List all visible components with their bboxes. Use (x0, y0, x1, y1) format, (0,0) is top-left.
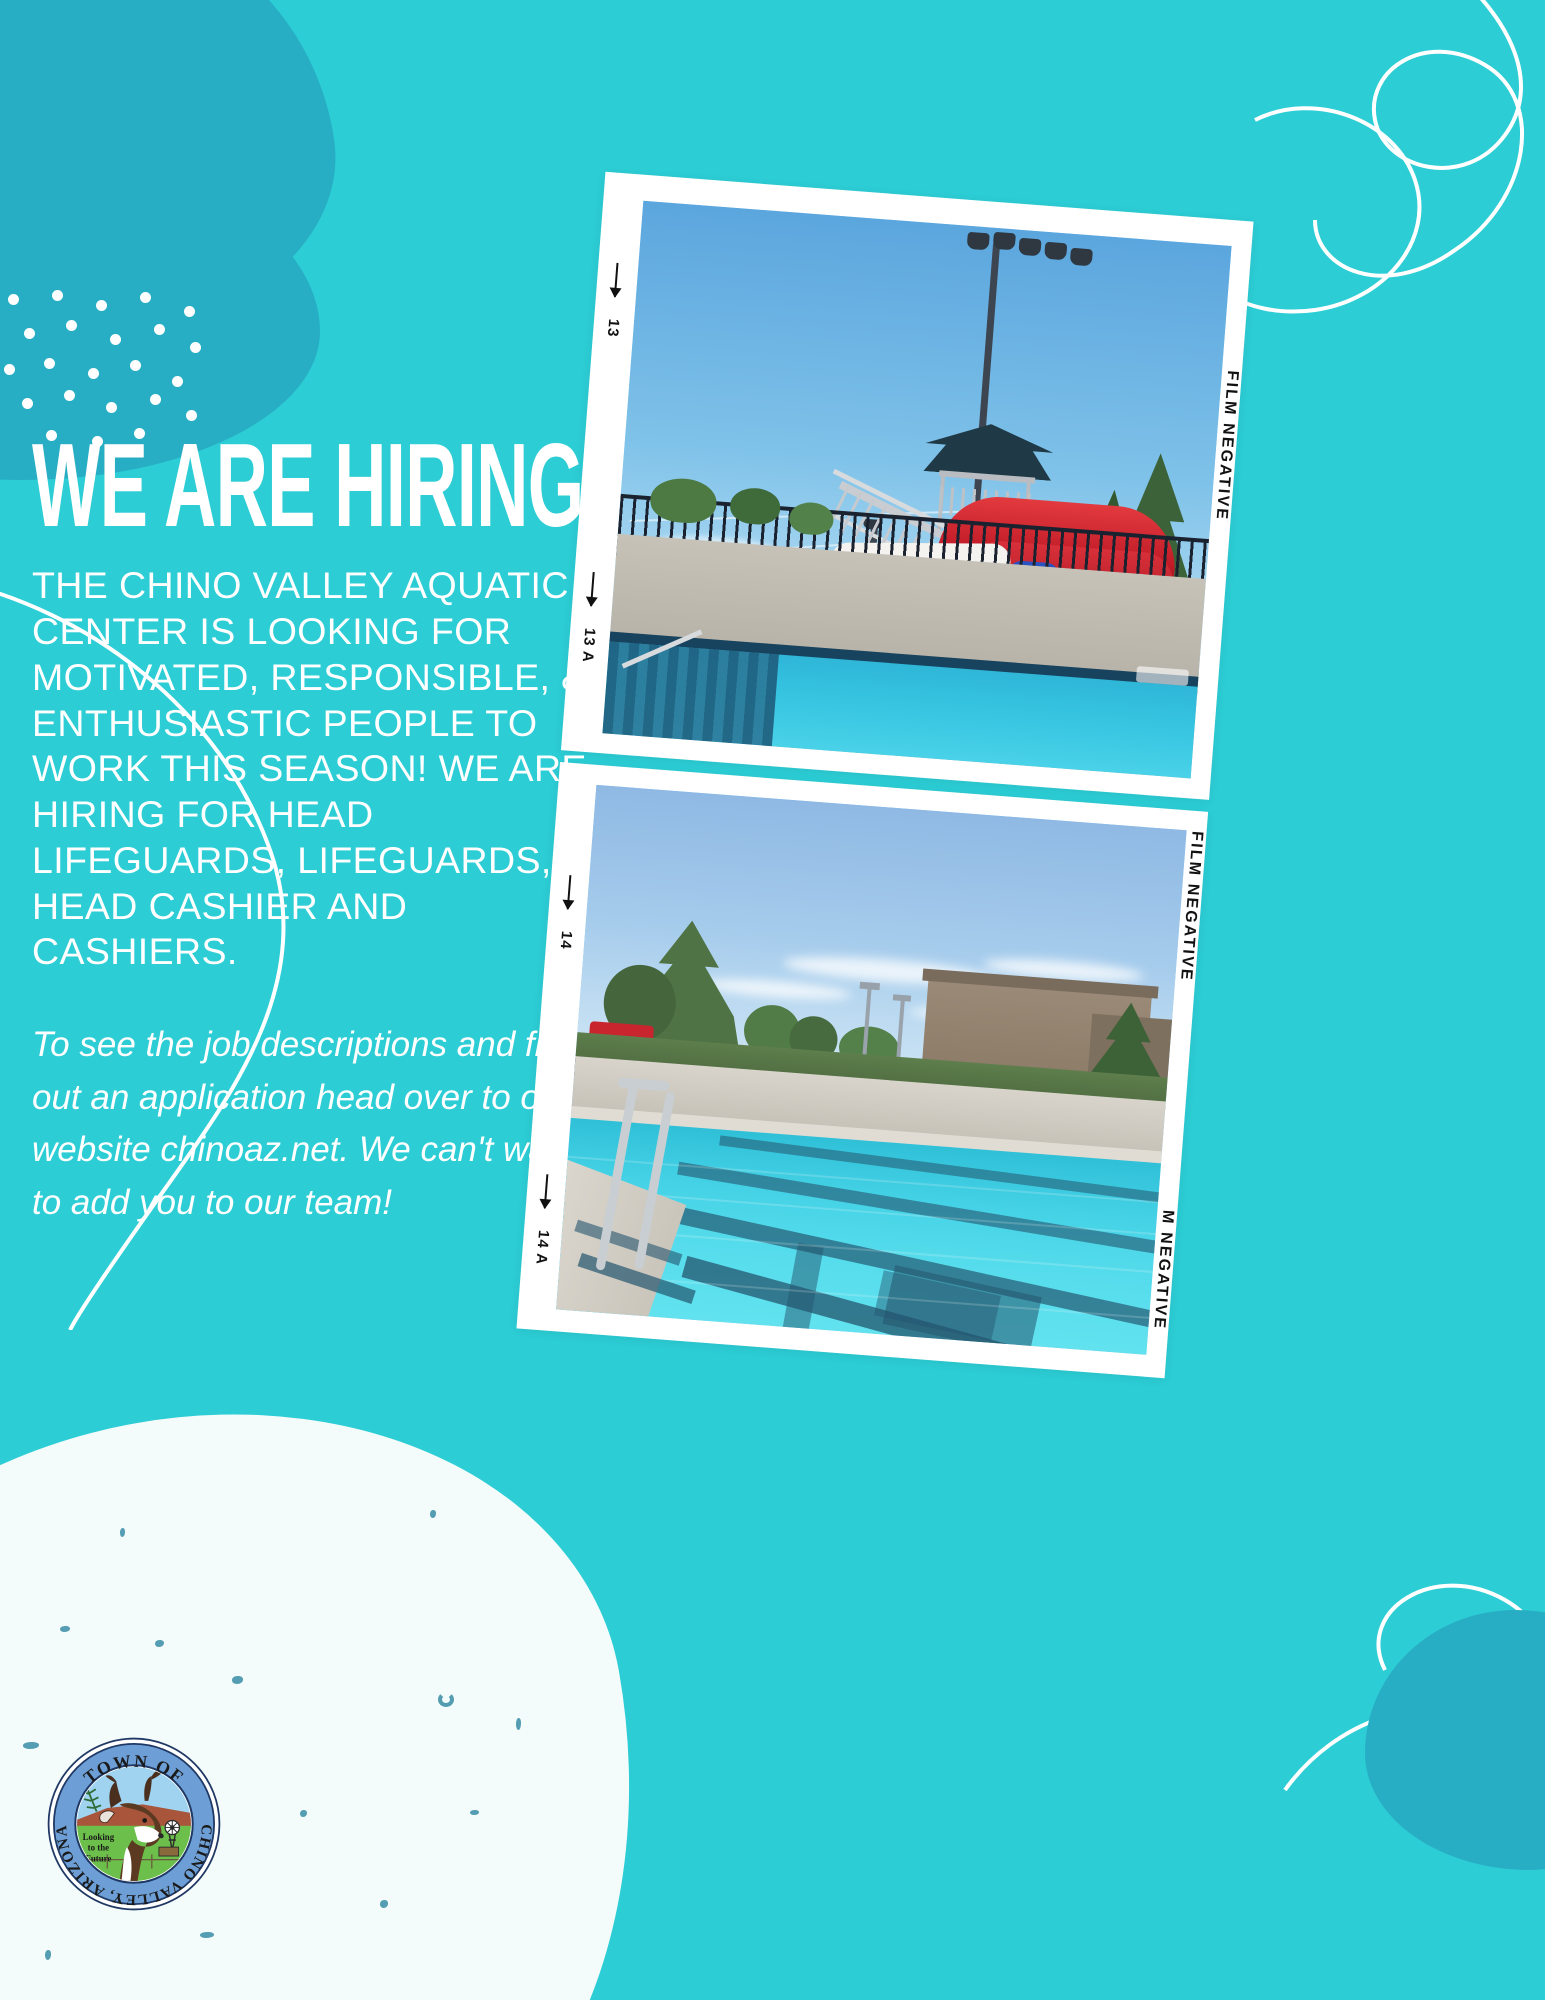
film-frame-number-14a: 14 A (532, 1229, 552, 1265)
photo-filmstrip: 4'0 13 13 A FILM NEGATIVE (516, 172, 1253, 1378)
call-to-action-copy: To see the job descriptions and fill out… (32, 1019, 577, 1229)
film-frame-top: 4'0 13 13 A FILM NEGATIVE (561, 172, 1254, 800)
film-arrow-13-icon (614, 263, 619, 297)
bottom-right-blob-shape (1365, 1610, 1545, 1870)
seal-motto-line2: to the (88, 1843, 110, 1853)
body-copy: THE CHINO VALLEY AQUATIC CENTER IS LOOKI… (32, 563, 602, 975)
photo-waterslide: 4'0 (602, 201, 1231, 779)
seal-motto-line1: Looking (83, 1832, 115, 1842)
hiring-flyer: WE ARE HIRING! THE CHINO VALLEY AQUATIC … (0, 0, 1545, 2000)
decorative-squiggle-bottom-right (1245, 1490, 1545, 1820)
film-frame-bottom: 14 14 A FILM NEGATIVE M NEGATIVE (516, 762, 1208, 1378)
page-title: WE ARE HIRING! (32, 430, 484, 542)
copy-column: WE ARE HIRING! THE CHINO VALLEY AQUATIC … (32, 430, 612, 1229)
top-left-blob-shape (0, 0, 357, 377)
photo-lap-pool (556, 785, 1187, 1355)
film-frame-number-13: 13 (604, 318, 622, 338)
town-of-chino-valley-seal: Looking to the Future TOWN OF CHINO VALL… (45, 1735, 223, 1913)
